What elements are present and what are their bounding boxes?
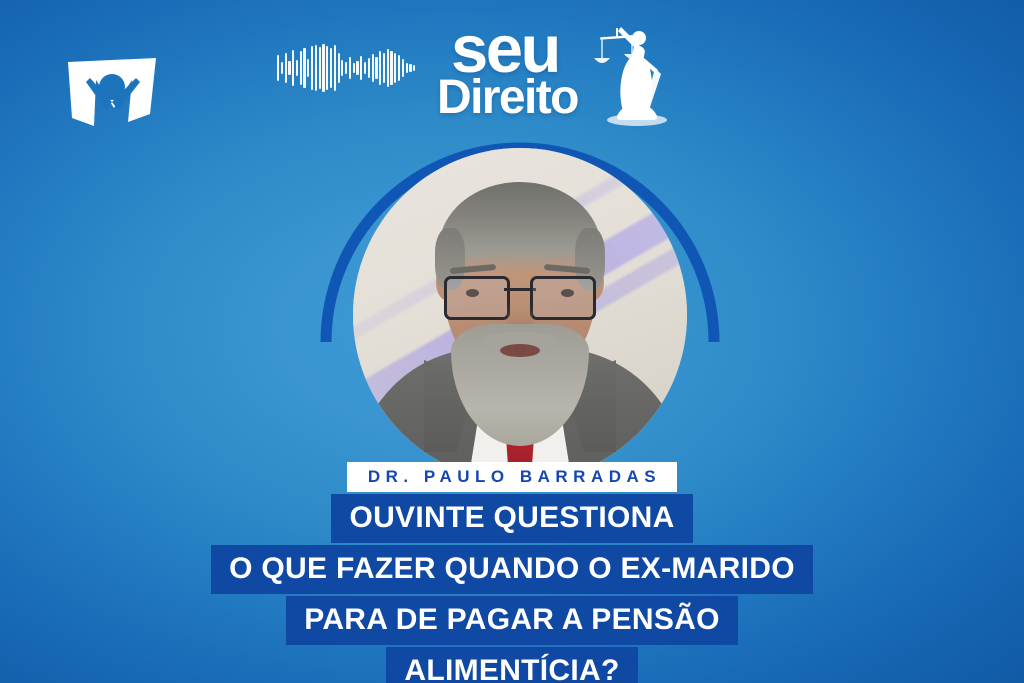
waveform-bar — [406, 63, 408, 73]
caption-block: DR. PAULO BARRADAS OUVINTE QUESTIONA O Q… — [0, 458, 1024, 683]
brand-logo-icon — [66, 56, 158, 128]
caption-line-row: O QUE FAZER QUANDO O EX-MARIDO — [0, 545, 1024, 594]
caption-line-row: ALIMENTÍCIA? — [0, 647, 1024, 683]
waveform-bar — [383, 53, 385, 83]
portrait-photo — [353, 148, 687, 482]
waveform-bar — [353, 63, 355, 73]
waveform-bar — [296, 60, 298, 76]
waveform-bar — [413, 65, 415, 71]
audio-waveform-icon — [277, 44, 437, 92]
speaker-name-row: DR. PAULO BARRADAS — [0, 462, 1024, 492]
waveform-bar — [285, 53, 287, 83]
caption-line-row: PARA DE PAGAR A PENSÃO — [0, 596, 1024, 645]
waveform-bar — [334, 45, 336, 91]
waveform-bar — [345, 62, 347, 74]
waveform-bar — [372, 54, 374, 82]
waveform-bar — [364, 62, 366, 74]
waveform-bar — [409, 64, 411, 72]
caption-line-2: O QUE FAZER QUANDO O EX-MARIDO — [211, 545, 813, 594]
waveform-bar — [281, 62, 283, 74]
speaker-name-badge: DR. PAULO BARRADAS — [347, 462, 677, 492]
waveform-bar — [368, 58, 370, 78]
waveform-bar — [394, 53, 396, 83]
waveform-bar — [319, 47, 321, 89]
caption-line-row: OUVINTE QUESTIONA — [0, 494, 1024, 543]
waveform-bar — [349, 57, 351, 79]
show-wordmark: seu Direito — [437, 22, 617, 132]
waveform-bar — [356, 61, 358, 75]
waveform-bar — [300, 51, 302, 85]
header-bar: seu Direito — [0, 0, 1024, 140]
waveform-bar — [303, 48, 305, 88]
waveform-bar — [315, 45, 317, 91]
waveform-bar — [375, 57, 377, 79]
caption-line-4: ALIMENTÍCIA? — [386, 647, 637, 683]
waveform-bar — [330, 48, 332, 88]
waveform-bar — [379, 51, 381, 85]
lady-justice-statue-icon — [592, 16, 678, 128]
waveform-bar — [341, 60, 343, 76]
waveform-bar — [307, 59, 309, 77]
waveform-bar — [387, 49, 389, 87]
waveform-bar — [402, 59, 404, 77]
waveform-bar — [292, 50, 294, 86]
video-thumbnail-canvas: seu Direito — [0, 0, 1024, 683]
waveform-bar — [398, 55, 400, 81]
waveform-bar — [322, 44, 324, 92]
waveform-bar — [277, 55, 279, 81]
waveform-bar — [390, 51, 392, 85]
caption-line-1: OUVINTE QUESTIONA — [331, 494, 692, 543]
waveform-bar — [311, 46, 313, 90]
speaker-portrait — [316, 132, 728, 494]
waveform-bar — [360, 56, 362, 80]
waveform-bar — [288, 61, 290, 75]
caption-line-3: PARA DE PAGAR A PENSÃO — [286, 596, 738, 645]
wordmark-line-direito: Direito — [437, 74, 578, 122]
waveform-bar — [326, 46, 328, 90]
waveform-bar — [338, 53, 340, 83]
